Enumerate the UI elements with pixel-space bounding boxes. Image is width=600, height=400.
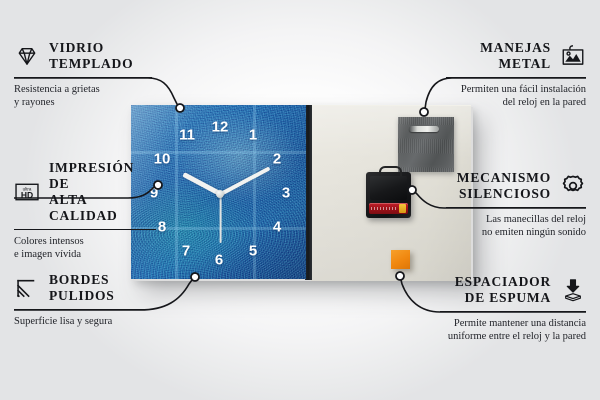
callout-title: VIDRIO TEMPLADO — [49, 40, 133, 72]
clock-numeral-6: 6 — [215, 253, 223, 268]
gear-icon — [560, 173, 586, 199]
callout-espaciador-espuma: ESPACIADOR DE ESPUMA Permite mantener un… — [440, 274, 586, 344]
callout-header: BORDES PULIDOS — [14, 272, 154, 304]
infographic-canvas: 12 1 2 3 4 5 6 7 8 9 10 11 — [0, 0, 600, 400]
glass-edge — [305, 105, 312, 280]
mechanism-body — [370, 176, 407, 200]
callout-subtitle: Resistencia a grietas y rayones — [14, 83, 154, 110]
callout-subtitle: Permiten una fácil instalación del reloj… — [446, 83, 586, 110]
callout-rule — [14, 77, 152, 78]
callout-rule — [446, 207, 586, 208]
hands-center-cap — [216, 190, 224, 198]
callout-header: MANEJAS METAL — [446, 40, 586, 72]
foam-spacer — [391, 250, 410, 269]
clock-numeral-3: 3 — [282, 186, 290, 201]
callout-header: MECANISMO SILENCIOSO — [446, 170, 586, 202]
clock-numeral-4: 4 — [273, 220, 281, 235]
callout-title: MANEJAS METAL — [480, 40, 551, 72]
clock-numeral-8: 8 — [158, 220, 166, 235]
callout-impresion-alta-calidad: ultra HD IMPRESIÓN DE ALTA CALIDAD Color… — [14, 160, 158, 262]
quartz-mechanism — [366, 172, 411, 218]
wall-frame-icon — [560, 43, 586, 69]
hanger-slot — [409, 126, 439, 132]
ultra-hd-icon: ultra HD — [14, 179, 40, 205]
callout-title: BORDES PULIDOS — [49, 272, 115, 304]
callout-subtitle: Permite mantener una distancia uniforme … — [440, 317, 586, 344]
callout-title: MECANISMO SILENCIOSO — [457, 170, 551, 202]
callout-subtitle: Colores intensos e imagen vívida — [14, 235, 158, 262]
callout-bordes-pulidos: BORDES PULIDOS Superficie lisa y segura — [14, 272, 154, 328]
clock-numeral-7: 7 — [182, 244, 190, 259]
callout-title: ESPACIADOR DE ESPUMA — [455, 274, 551, 306]
callout-header: ESPACIADOR DE ESPUMA — [440, 274, 586, 306]
callout-subtitle: Las manecillas del reloj no emiten ningú… — [446, 213, 586, 240]
callout-mecanismo-silencioso: MECANISMO SILENCIOSO Las manecillas del … — [446, 170, 586, 240]
foam-spacer-icon — [560, 277, 586, 303]
callout-header: VIDRIO TEMPLADO — [14, 40, 154, 72]
battery — [369, 203, 408, 214]
metal-hanger-plate — [398, 117, 454, 172]
polished-edges-icon — [14, 275, 40, 301]
clock-numeral-11: 11 — [179, 128, 195, 143]
ultra-hd-icon-large-text: HD — [21, 190, 33, 200]
callout-title: IMPRESIÓN DE ALTA CALIDAD — [49, 160, 158, 224]
callout-rule — [14, 229, 156, 230]
clock-numeral-2: 2 — [273, 152, 281, 167]
clock-numeral-1: 1 — [249, 128, 257, 143]
callout-subtitle: Superficie lisa y segura — [14, 315, 154, 329]
callout-vidrio-templado: VIDRIO TEMPLADO Resistencia a grietas y … — [14, 40, 154, 110]
callout-manejas-metal: MANEJAS METAL Permiten una fácil instala… — [446, 40, 586, 110]
diamond-icon — [14, 43, 40, 69]
clock-numeral-12: 12 — [212, 120, 229, 135]
battery-terminal — [399, 204, 406, 213]
callout-rule — [14, 309, 152, 310]
clock-numeral-5: 5 — [249, 244, 257, 259]
callout-rule — [440, 311, 586, 312]
callout-header: ultra HD IMPRESIÓN DE ALTA CALIDAD — [14, 160, 158, 224]
second-hand — [220, 194, 222, 243]
callout-rule — [446, 77, 586, 78]
